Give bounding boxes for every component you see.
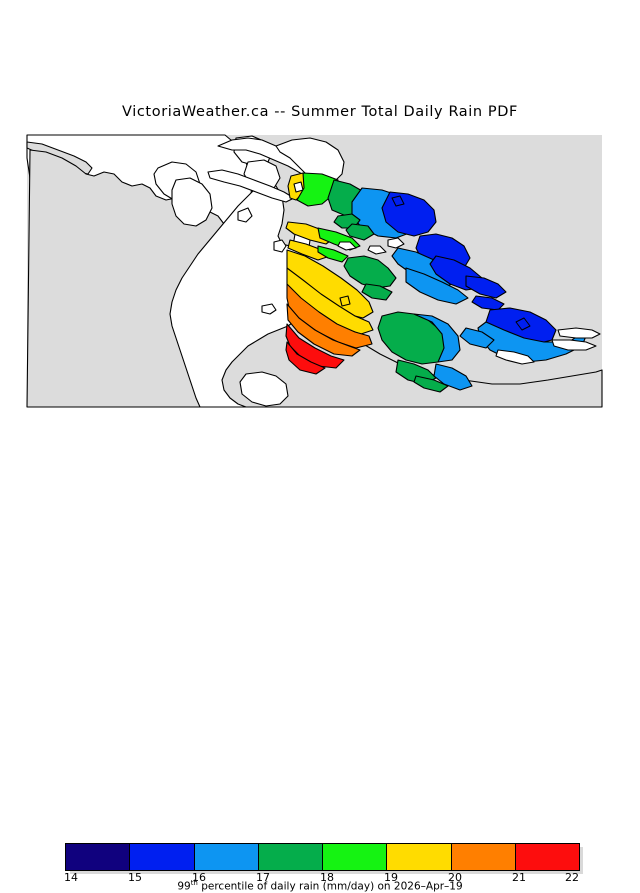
colorbar-band-16-17[interactable] <box>195 844 259 870</box>
map-panel[interactable] <box>0 128 640 410</box>
colorbar-caption: 99th percentile of daily rain (mm/day) o… <box>0 879 640 893</box>
colorbar[interactable] <box>65 843 580 871</box>
colorbar-band-19-20[interactable] <box>387 844 451 870</box>
colorbar-band-18-19[interactable] <box>323 844 387 870</box>
colorbar-caption-ordinal: th <box>191 879 198 887</box>
colorbar-area[interactable]: 14 15 16 17 18 19 20 21 22 99th percenti… <box>0 418 640 480</box>
page-title: VictoriaWeather.ca -- Summer Total Daily… <box>0 104 640 120</box>
colorbar-band-17-18[interactable] <box>259 844 323 870</box>
weather-map-page: VictoriaWeather.ca -- Summer Total Daily… <box>0 0 640 480</box>
colorbar-band-14-15[interactable] <box>66 844 130 870</box>
colorbar-caption-text: percentile of daily rain (mm/day) on 202… <box>198 881 463 893</box>
colorbar-caption-number: 99 <box>177 881 190 893</box>
data-region-peninsula-notch <box>340 296 350 306</box>
data-region-nw-white-notch <box>294 182 303 192</box>
map-svg[interactable] <box>0 128 640 410</box>
colorbar-band-20-21[interactable] <box>452 844 516 870</box>
colorbar-band-21-22[interactable] <box>516 844 579 870</box>
colorbar-band-15-16[interactable] <box>130 844 194 870</box>
